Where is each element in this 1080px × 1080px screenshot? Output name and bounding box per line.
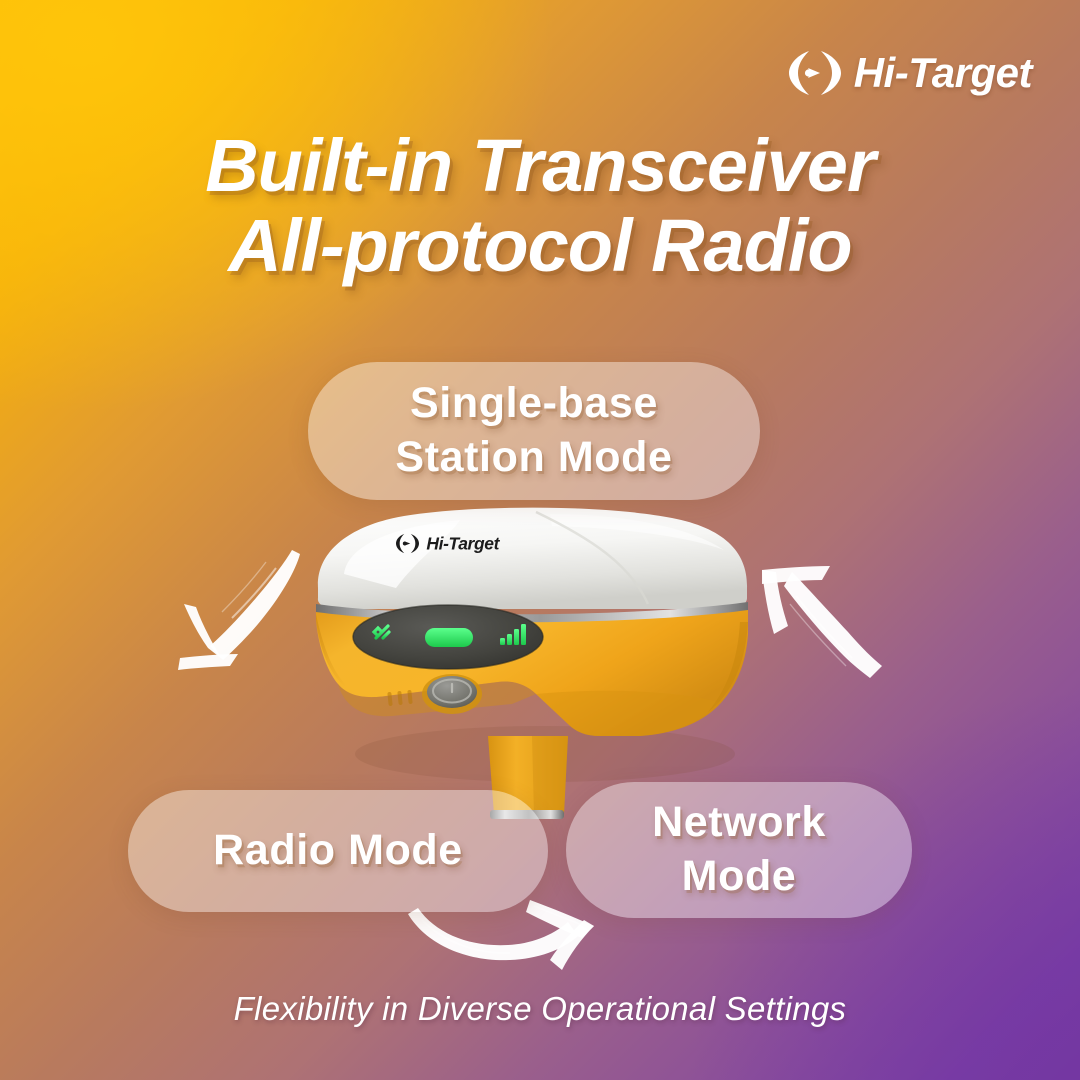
pill-radio-mode[interactable]: Radio Mode	[128, 790, 548, 912]
page-title: Built-in Transceiver All-protocol Radio	[0, 126, 1080, 286]
headline-line-2: All-protocol Radio	[0, 206, 1080, 286]
power-button	[422, 674, 482, 714]
pill-network-line-1: Network	[652, 798, 826, 846]
caption: Flexibility in Diverse Operational Setti…	[0, 990, 1080, 1028]
pill-single-base-station-mode[interactable]: Single-base Station Mode	[308, 362, 760, 500]
hi-target-signal-logo-icon	[789, 48, 841, 98]
pill-single-line-2: Station Mode	[395, 433, 672, 481]
svg-text:Hi-Target: Hi-Target	[426, 533, 500, 553]
brand-name: Hi-Target	[854, 49, 1032, 97]
pill-radio-mode-label: Radio Mode	[187, 824, 489, 878]
pill-single-base-station-mode-label: Single-base Station Mode	[369, 377, 698, 485]
poster-canvas: Hi-Target Built-in Transceiver All-proto…	[0, 0, 1080, 1080]
power-indicator-icon	[425, 628, 473, 647]
arrow-to-single-base-mode	[756, 552, 882, 678]
pill-single-line-1: Single-base	[410, 379, 658, 427]
brand-logo: Hi-Target	[789, 48, 1032, 98]
pill-network-line-2: Mode	[682, 852, 797, 900]
caption-text: Flexibility in Diverse Operational Setti…	[234, 990, 847, 1027]
arrow-to-radio-mode	[168, 546, 300, 674]
pill-network-mode[interactable]: Network Mode	[566, 782, 912, 918]
headline-line-1: Built-in Transceiver	[0, 126, 1080, 206]
pill-network-mode-label: Network Mode	[626, 796, 852, 904]
